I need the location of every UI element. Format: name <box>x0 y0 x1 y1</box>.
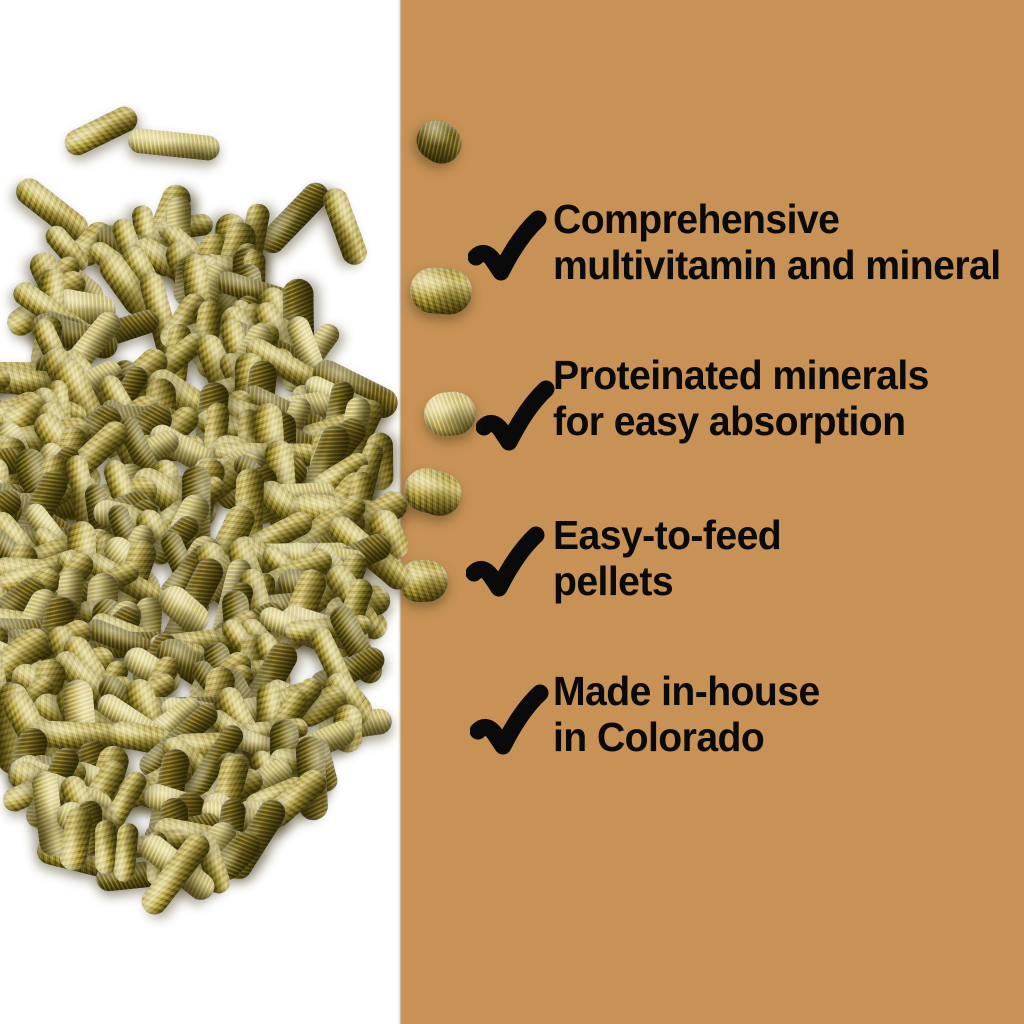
feed-pellet <box>60 102 142 160</box>
checkmark-icon <box>466 526 548 610</box>
benefit-label: Made in-house in Colorado <box>553 668 1001 761</box>
product-feature-graphic: Comprehensive multivitamin and mineral P… <box>0 0 1024 1024</box>
feed-pellet <box>320 185 371 269</box>
checkmark-icon <box>470 684 552 768</box>
checkmark-icon <box>468 210 550 294</box>
benefit-label: Easy-to-feed pellets <box>553 512 1001 605</box>
benefit-item: Made in-house in Colorado <box>462 668 1022 816</box>
feed-pellet <box>127 127 221 161</box>
checkmark-icon <box>476 380 558 464</box>
benefit-label: Comprehensive multivitamin and mineral <box>553 196 1001 289</box>
benefit-item: Comprehensive multivitamin and mineral <box>462 196 1022 352</box>
benefit-item: Easy-to-feed pellets <box>462 512 1022 668</box>
benefit-label: Proteinated minerals for easy absorption <box>553 352 1001 445</box>
benefits-list: Comprehensive multivitamin and mineral P… <box>462 196 1022 816</box>
benefit-item: Proteinated minerals for easy absorption <box>462 352 1022 512</box>
